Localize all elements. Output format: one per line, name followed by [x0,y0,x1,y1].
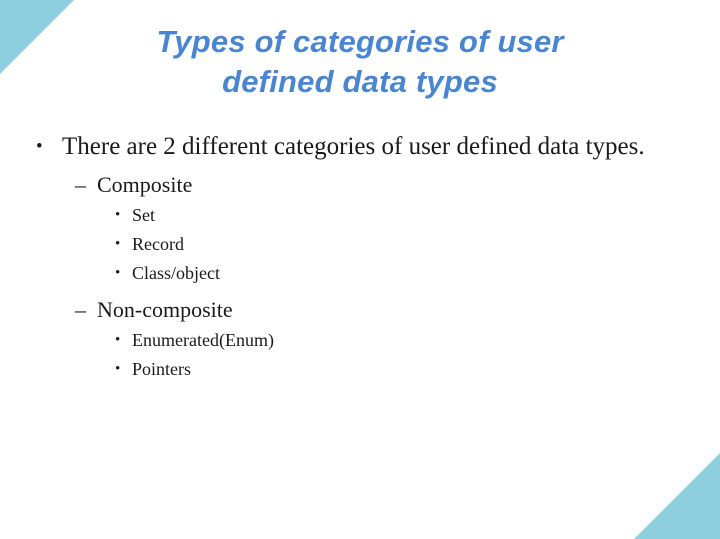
bullet-text: Non-composite [97,294,720,325]
bullet-text: Pointers [132,355,720,384]
bullet-item-level1: • There are 2 different categories of us… [0,130,720,163]
bullet-text: There are 2 different categories of user… [62,130,677,163]
bullet-text: Composite [97,169,720,200]
bullet-marker-dot-icon: • [115,355,132,384]
slide-body-outline: • There are 2 different categories of us… [0,130,720,384]
bullet-marker-dot-icon: • [115,326,132,355]
bullet-item-level2-composite: – Composite [0,169,720,200]
bullet-item-level3-set: • Set [0,201,720,230]
bullet-marker-dot-icon: • [115,259,132,288]
slide-title: Types of categories of user defined data… [60,22,660,102]
bullet-text: Enumerated(Enum) [132,326,720,355]
bullet-item-level3-class-object: • Class/object [0,259,720,288]
bullet-text: Class/object [132,259,720,288]
bullet-item-level3-enumerated: • Enumerated(Enum) [0,326,720,355]
bullet-marker-dash-icon: – [75,169,97,200]
slide-title-line-1: Types of categories of user [60,22,660,62]
bullet-text: Record [132,230,720,259]
bullet-item-level3-pointers: • Pointers [0,355,720,384]
bullet-text: Set [132,201,720,230]
slide-title-line-2: defined data types [60,62,660,102]
bottom-right-triangle-decoration [634,453,720,539]
slide-canvas: Types of categories of user defined data… [0,0,720,539]
bullet-marker-dot-icon: • [36,130,62,163]
bullet-marker-dot-icon: • [115,230,132,259]
bullet-marker-dash-icon: – [75,294,97,325]
bullet-marker-dot-icon: • [115,201,132,230]
bullet-item-level2-non-composite: – Non-composite [0,294,720,325]
bullet-item-level3-record: • Record [0,230,720,259]
